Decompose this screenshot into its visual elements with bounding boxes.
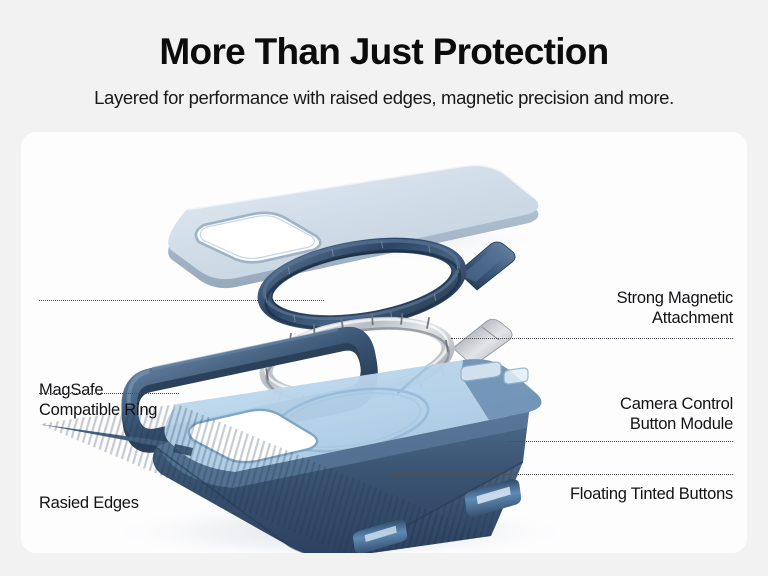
leader-line-rasied-edges [39, 393, 179, 394]
leader-line-strong-magnetic-attachment [451, 338, 733, 339]
infographic-page: More Than Just Protection Layered for pe… [0, 0, 768, 576]
page-title: More Than Just Protection [0, 33, 768, 70]
header: More Than Just Protection Layered for pe… [0, 0, 768, 108]
callout-line: Compatible Ring [39, 400, 157, 420]
callout-camera-control-button-module: Camera Control Button Module [620, 394, 733, 434]
callout-magsafe-compatible-ring: MagSafe Compatible Ring [39, 380, 157, 420]
leader-line-magsafe-compatible-ring [39, 300, 324, 301]
callout-line: Camera Control [620, 394, 733, 414]
magnet-ring-tab [453, 319, 512, 366]
callout-line: Attachment [617, 308, 733, 328]
callout-line: Button Module [620, 414, 733, 434]
callout-rasied-edges: Rasied Edges [39, 493, 139, 513]
leader-line-floating-tinted-buttons [389, 474, 733, 475]
callout-floating-tinted-buttons: Floating Tinted Buttons [570, 484, 733, 504]
leader-line-camera-control-button-module [509, 441, 733, 442]
page-subtitle: Layered for performance with raised edge… [0, 89, 768, 108]
callout-line: Strong Magnetic [617, 288, 733, 308]
diagram-card: MagSafe Compatible Ring Rasied Edges Str… [21, 132, 747, 553]
callout-line: MagSafe [39, 380, 157, 400]
callout-line: Floating Tinted Buttons [570, 484, 733, 504]
callout-line: Rasied Edges [39, 493, 139, 513]
callout-strong-magnetic-attachment: Strong Magnetic Attachment [617, 288, 733, 328]
